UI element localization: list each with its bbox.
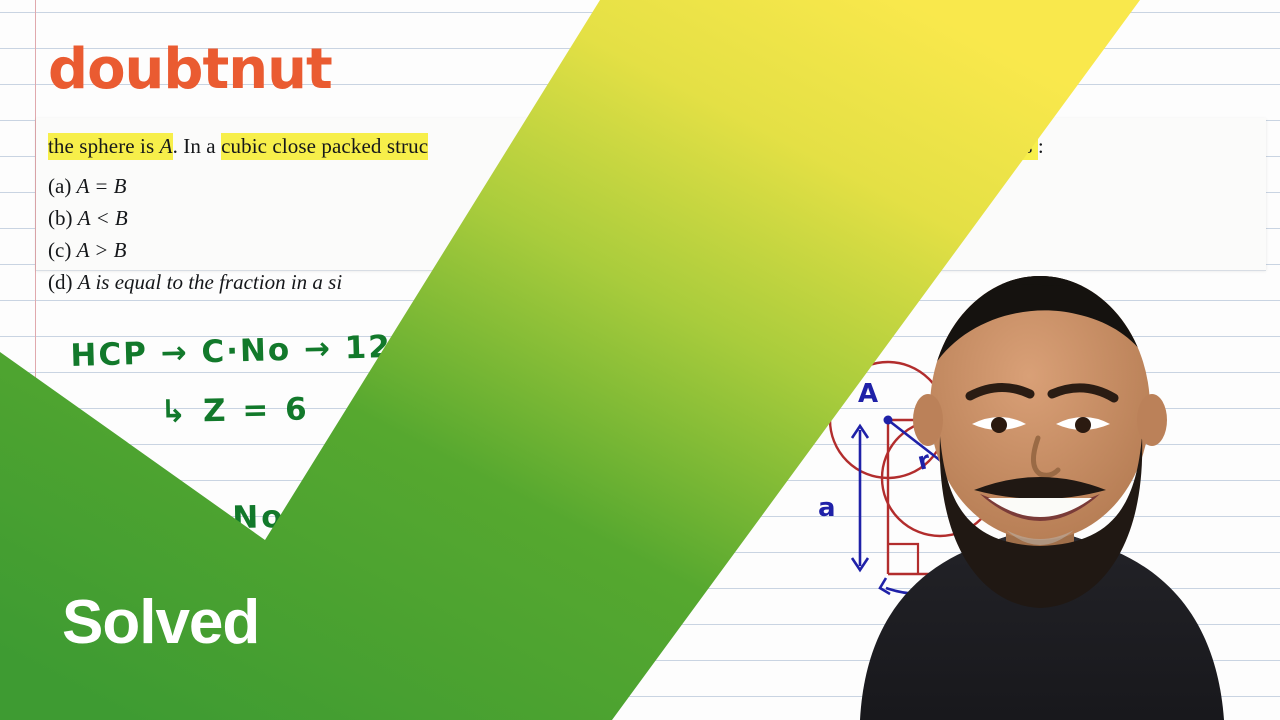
doubtnut-logo-text: doubtnut	[48, 38, 332, 100]
question-highlight-1: the sphere is A	[48, 133, 173, 160]
question-stem-line: the sphere is A. In a cubic close packed…	[48, 130, 1258, 162]
option-a[interactable]: (a) A = B	[48, 170, 342, 202]
option-b-label: (b)	[48, 206, 73, 230]
question-highlight-2: cubic close packed struc	[221, 133, 428, 160]
status-badge: Solved	[62, 592, 259, 654]
pupil-left	[991, 417, 1007, 433]
option-c-body: A > B	[77, 238, 127, 262]
option-c-label: (c)	[48, 238, 71, 262]
ear-right	[1137, 394, 1167, 446]
video-frame: the sphere is A. In a cubic close packed…	[0, 0, 1280, 720]
option-a-label: (a)	[48, 174, 71, 198]
question-stem: the sphere is A. In a cubic close packed…	[48, 130, 1258, 162]
handwriting-line-3: No →	[232, 498, 329, 536]
question-highlight-3: B is	[1000, 133, 1038, 160]
presenter-photo	[800, 258, 1280, 720]
option-b[interactable]: (b) A < B	[48, 202, 342, 234]
option-b-body: A < B	[78, 206, 128, 230]
doubtnut-logo[interactable]: doubtnut	[48, 38, 348, 100]
question-options: (a) A = B (b) A < B (c) A > B (d) A is e…	[48, 170, 342, 298]
option-d-body: A is equal to the fraction in a si	[78, 270, 342, 294]
pupil-right	[1075, 417, 1091, 433]
question-stem-tail: B is :	[1000, 130, 1044, 162]
option-d[interactable]: (d) A is equal to the fraction in a si	[48, 266, 342, 298]
option-d-label: (d)	[48, 270, 73, 294]
paper-margin-line	[35, 0, 36, 720]
ear-left	[913, 394, 943, 446]
option-c[interactable]: (c) A > B	[48, 234, 342, 266]
handwriting-line-2: ↳ Z = 6	[160, 391, 310, 430]
option-a-body: A = B	[77, 174, 127, 198]
